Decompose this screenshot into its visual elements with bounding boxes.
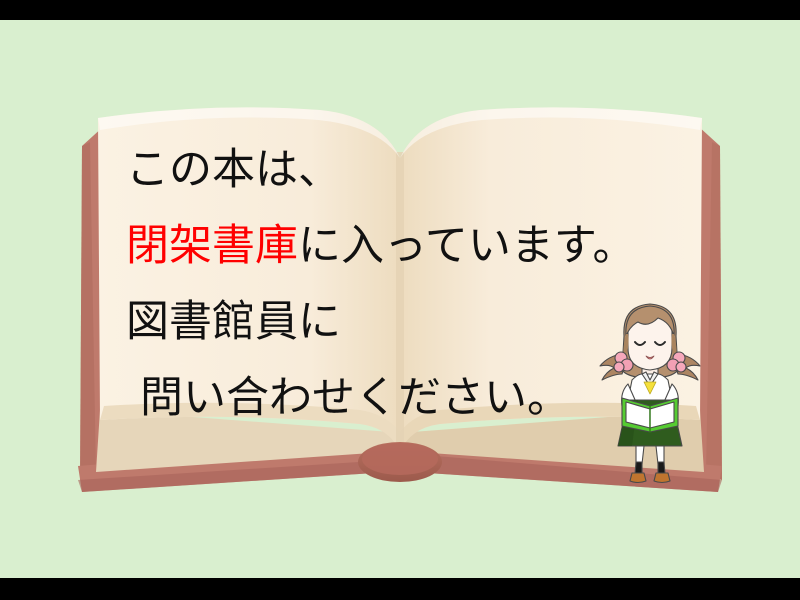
sock-left — [635, 462, 642, 474]
message-line-2-highlight: 閉架書庫 — [126, 221, 298, 271]
book-spine — [358, 442, 442, 482]
message-line-1-text: この本は、 — [126, 145, 341, 195]
message-line-4-text: 問い合わせください。 — [140, 373, 570, 423]
shoe-left — [630, 473, 646, 483]
letterbox-bar-top — [0, 0, 800, 20]
message-line-1: この本は、 — [126, 132, 686, 208]
letterbox-bar-bottom — [0, 578, 800, 600]
slide-canvas: この本は、 閉架書庫に入っています。 図書館員に 問い合わせください。 — [0, 0, 800, 600]
message-line-2: 閉架書庫に入っています。 — [126, 208, 686, 284]
leg-left — [636, 446, 644, 464]
sock-right — [658, 462, 665, 474]
leg-right — [656, 446, 664, 464]
message-line-3-text: 図書館員に — [126, 297, 341, 347]
message-line-2-rest: に入っています。 — [298, 221, 636, 271]
girl-reading-icon — [592, 292, 708, 484]
shoe-right — [654, 473, 670, 483]
slide-background: この本は、 閉架書庫に入っています。 図書館員に 問い合わせください。 — [0, 20, 800, 578]
